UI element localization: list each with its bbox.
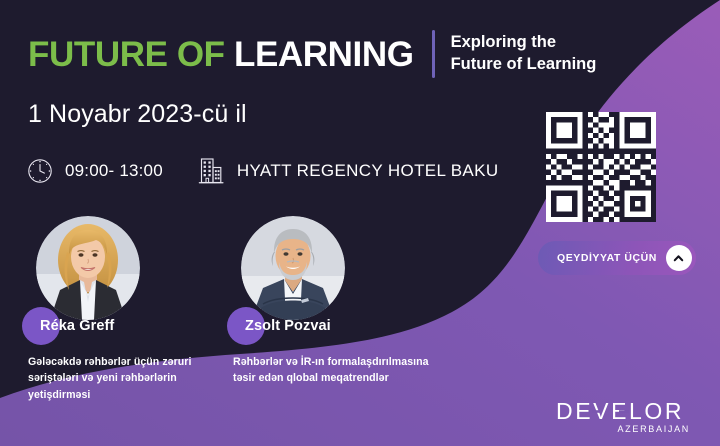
speaker-description: Rəhbərlər və İR-ın formalaşdırılmasına t… — [227, 354, 433, 387]
portrait-photo — [241, 216, 345, 320]
subtitle-line-2: Future of Learning — [451, 54, 597, 76]
event-meta-row: 09:00- 13:00 — [26, 156, 498, 186]
event-time-item: 09:00- 13:00 — [26, 157, 163, 185]
event-time-text: 09:00- 13:00 — [65, 161, 163, 181]
title-white-part: LEARNING — [234, 35, 414, 74]
qr-code-icon — [546, 112, 656, 222]
clock-icon — [26, 157, 54, 185]
speaker-card: Réka Greff Gələcəkdə rəhbərlər üçün zəru… — [22, 216, 228, 403]
event-venue-text: HYATT REGENCY HOTEL BAKU — [237, 161, 499, 181]
banner-title-row: FUTURE OF LEARNING Exploring the Future … — [28, 30, 596, 78]
speaker-description: Gələcəkdə rəhbərlər üçün zəruri səriştəl… — [22, 354, 228, 403]
speaker-card: Zsolt Pozvai Rəhbərlər və İR-ın formalaş… — [227, 216, 433, 387]
speaker-name: Zsolt Pozvai — [227, 318, 331, 334]
banner-subtitle: Exploring the Future of Learning — [451, 32, 597, 76]
register-button[interactable]: QEYDİYYAT ÜÇÜN — [538, 241, 696, 275]
title-green-part: FUTURE OF — [28, 35, 225, 74]
register-button-label: QEYDİYYAT ÜÇÜN — [557, 252, 657, 264]
subtitle-line-1: Exploring the — [451, 32, 597, 54]
qr-code[interactable] — [546, 112, 656, 222]
page-title: FUTURE OF LEARNING — [28, 37, 414, 72]
chevron-up-icon — [666, 245, 692, 271]
portrait-photo — [36, 216, 140, 320]
speaker-name-badge: Réka Greff — [22, 307, 228, 345]
event-date: 1 Noyabr 2023-cü il — [28, 100, 247, 129]
speaker-name-badge: Zsolt Pozvai — [227, 307, 433, 345]
building-icon — [197, 156, 225, 186]
event-banner: FUTURE OF LEARNING Exploring the Future … — [0, 0, 720, 446]
logo-region: AZERBAIJAN — [617, 424, 690, 434]
event-venue-item: HYATT REGENCY HOTEL BAKU — [197, 156, 499, 186]
title-divider — [432, 30, 435, 78]
develor-logo-icon: DEVELOR AZERBAIJAN — [556, 398, 692, 438]
avatar — [241, 216, 345, 320]
develor-logo: DEVELOR AZERBAIJAN — [556, 398, 692, 438]
speaker-name: Réka Greff — [22, 318, 114, 334]
avatar — [36, 216, 140, 320]
